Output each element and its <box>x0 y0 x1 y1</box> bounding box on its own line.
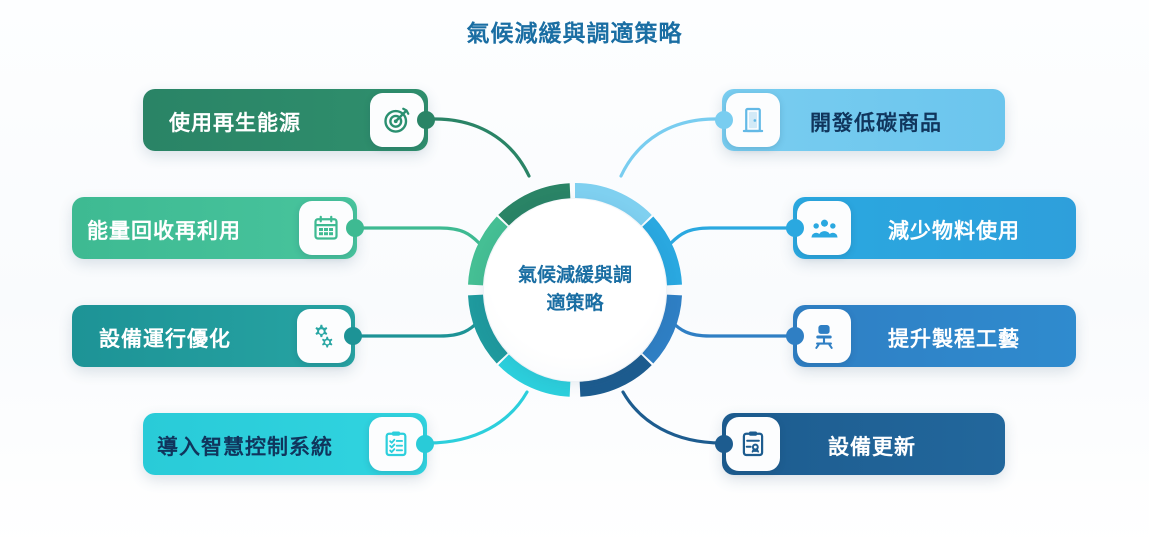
wire-left-2 <box>362 228 479 243</box>
node-left-2-connector-nub <box>346 219 364 237</box>
node-right-2-connector-nub <box>786 219 804 237</box>
node-right-1-label: 開發低碳商品 <box>810 107 942 137</box>
node-left-4-connector-nub <box>416 435 434 453</box>
node-right-2-chip <box>797 201 851 255</box>
node-left-4-label: 導入智慧控制系統 <box>157 431 333 461</box>
center-hub: 氣候減緩與調 適策略 <box>466 181 684 399</box>
people-icon <box>810 214 839 243</box>
wire-right-4 <box>623 392 722 443</box>
node-right-4-connector-nub <box>715 435 733 453</box>
node-left-3-label: 設備運行優化 <box>99 323 231 353</box>
page-title: 氣候減緩與調適策略 <box>0 14 1149 48</box>
node-right-1-chip <box>726 93 780 147</box>
node-left-4[interactable]: 導入智慧控制系統 <box>143 413 427 475</box>
wire-right-3 <box>671 321 788 336</box>
diagram-canvas: 氣候減緩與調適策略 <box>0 0 1149 550</box>
hub-inner-disc: 氣候減緩與調 適策略 <box>484 199 666 381</box>
node-right-4[interactable]: 設備更新 <box>722 413 1005 475</box>
hub-label: 氣候減緩與調 適策略 <box>500 262 650 317</box>
chair-icon <box>810 322 838 350</box>
node-right-3-connector-nub <box>786 327 804 345</box>
node-left-3[interactable]: 設備運行優化 <box>72 305 355 367</box>
checklist-icon <box>382 430 410 458</box>
hub-label-line2: 適策略 <box>500 290 650 318</box>
node-left-3-connector-nub <box>344 327 362 345</box>
node-right-3[interactable]: 提升製程工藝 <box>793 305 1076 367</box>
node-right-3-label: 提升製程工藝 <box>888 323 1020 353</box>
node-right-4-label: 設備更新 <box>828 431 916 461</box>
node-right-4-chip <box>726 417 780 471</box>
node-right-3-chip <box>797 309 851 363</box>
node-right-1[interactable]: 開發低碳商品 <box>722 89 1005 151</box>
target-icon <box>382 105 412 135</box>
node-left-2-chip <box>299 201 353 255</box>
node-left-3-chip <box>297 309 351 363</box>
node-left-1-label: 使用再生能源 <box>169 107 301 137</box>
clipboard-user-icon <box>739 430 767 458</box>
calendar-icon <box>312 214 340 242</box>
wire-left-4 <box>428 392 527 443</box>
wire-left-3 <box>360 321 479 336</box>
door-icon <box>739 106 767 134</box>
node-left-1-connector-nub <box>417 111 435 129</box>
node-left-4-chip <box>369 417 423 471</box>
node-right-1-connector-nub <box>715 111 733 129</box>
wire-right-1 <box>621 119 718 176</box>
hub-label-line1: 氣候減緩與調 <box>500 262 650 290</box>
gears-icon <box>310 322 338 350</box>
node-left-2-label: 能量回收再利用 <box>87 215 241 245</box>
node-left-1[interactable]: 使用再生能源 <box>143 89 428 151</box>
node-right-2[interactable]: 減少物料使用 <box>793 197 1076 259</box>
node-left-2[interactable]: 能量回收再利用 <box>72 197 357 259</box>
node-right-2-label: 減少物料使用 <box>888 215 1020 245</box>
wire-left-1 <box>432 119 529 176</box>
wire-right-2 <box>671 228 788 243</box>
node-left-1-chip <box>370 93 424 147</box>
